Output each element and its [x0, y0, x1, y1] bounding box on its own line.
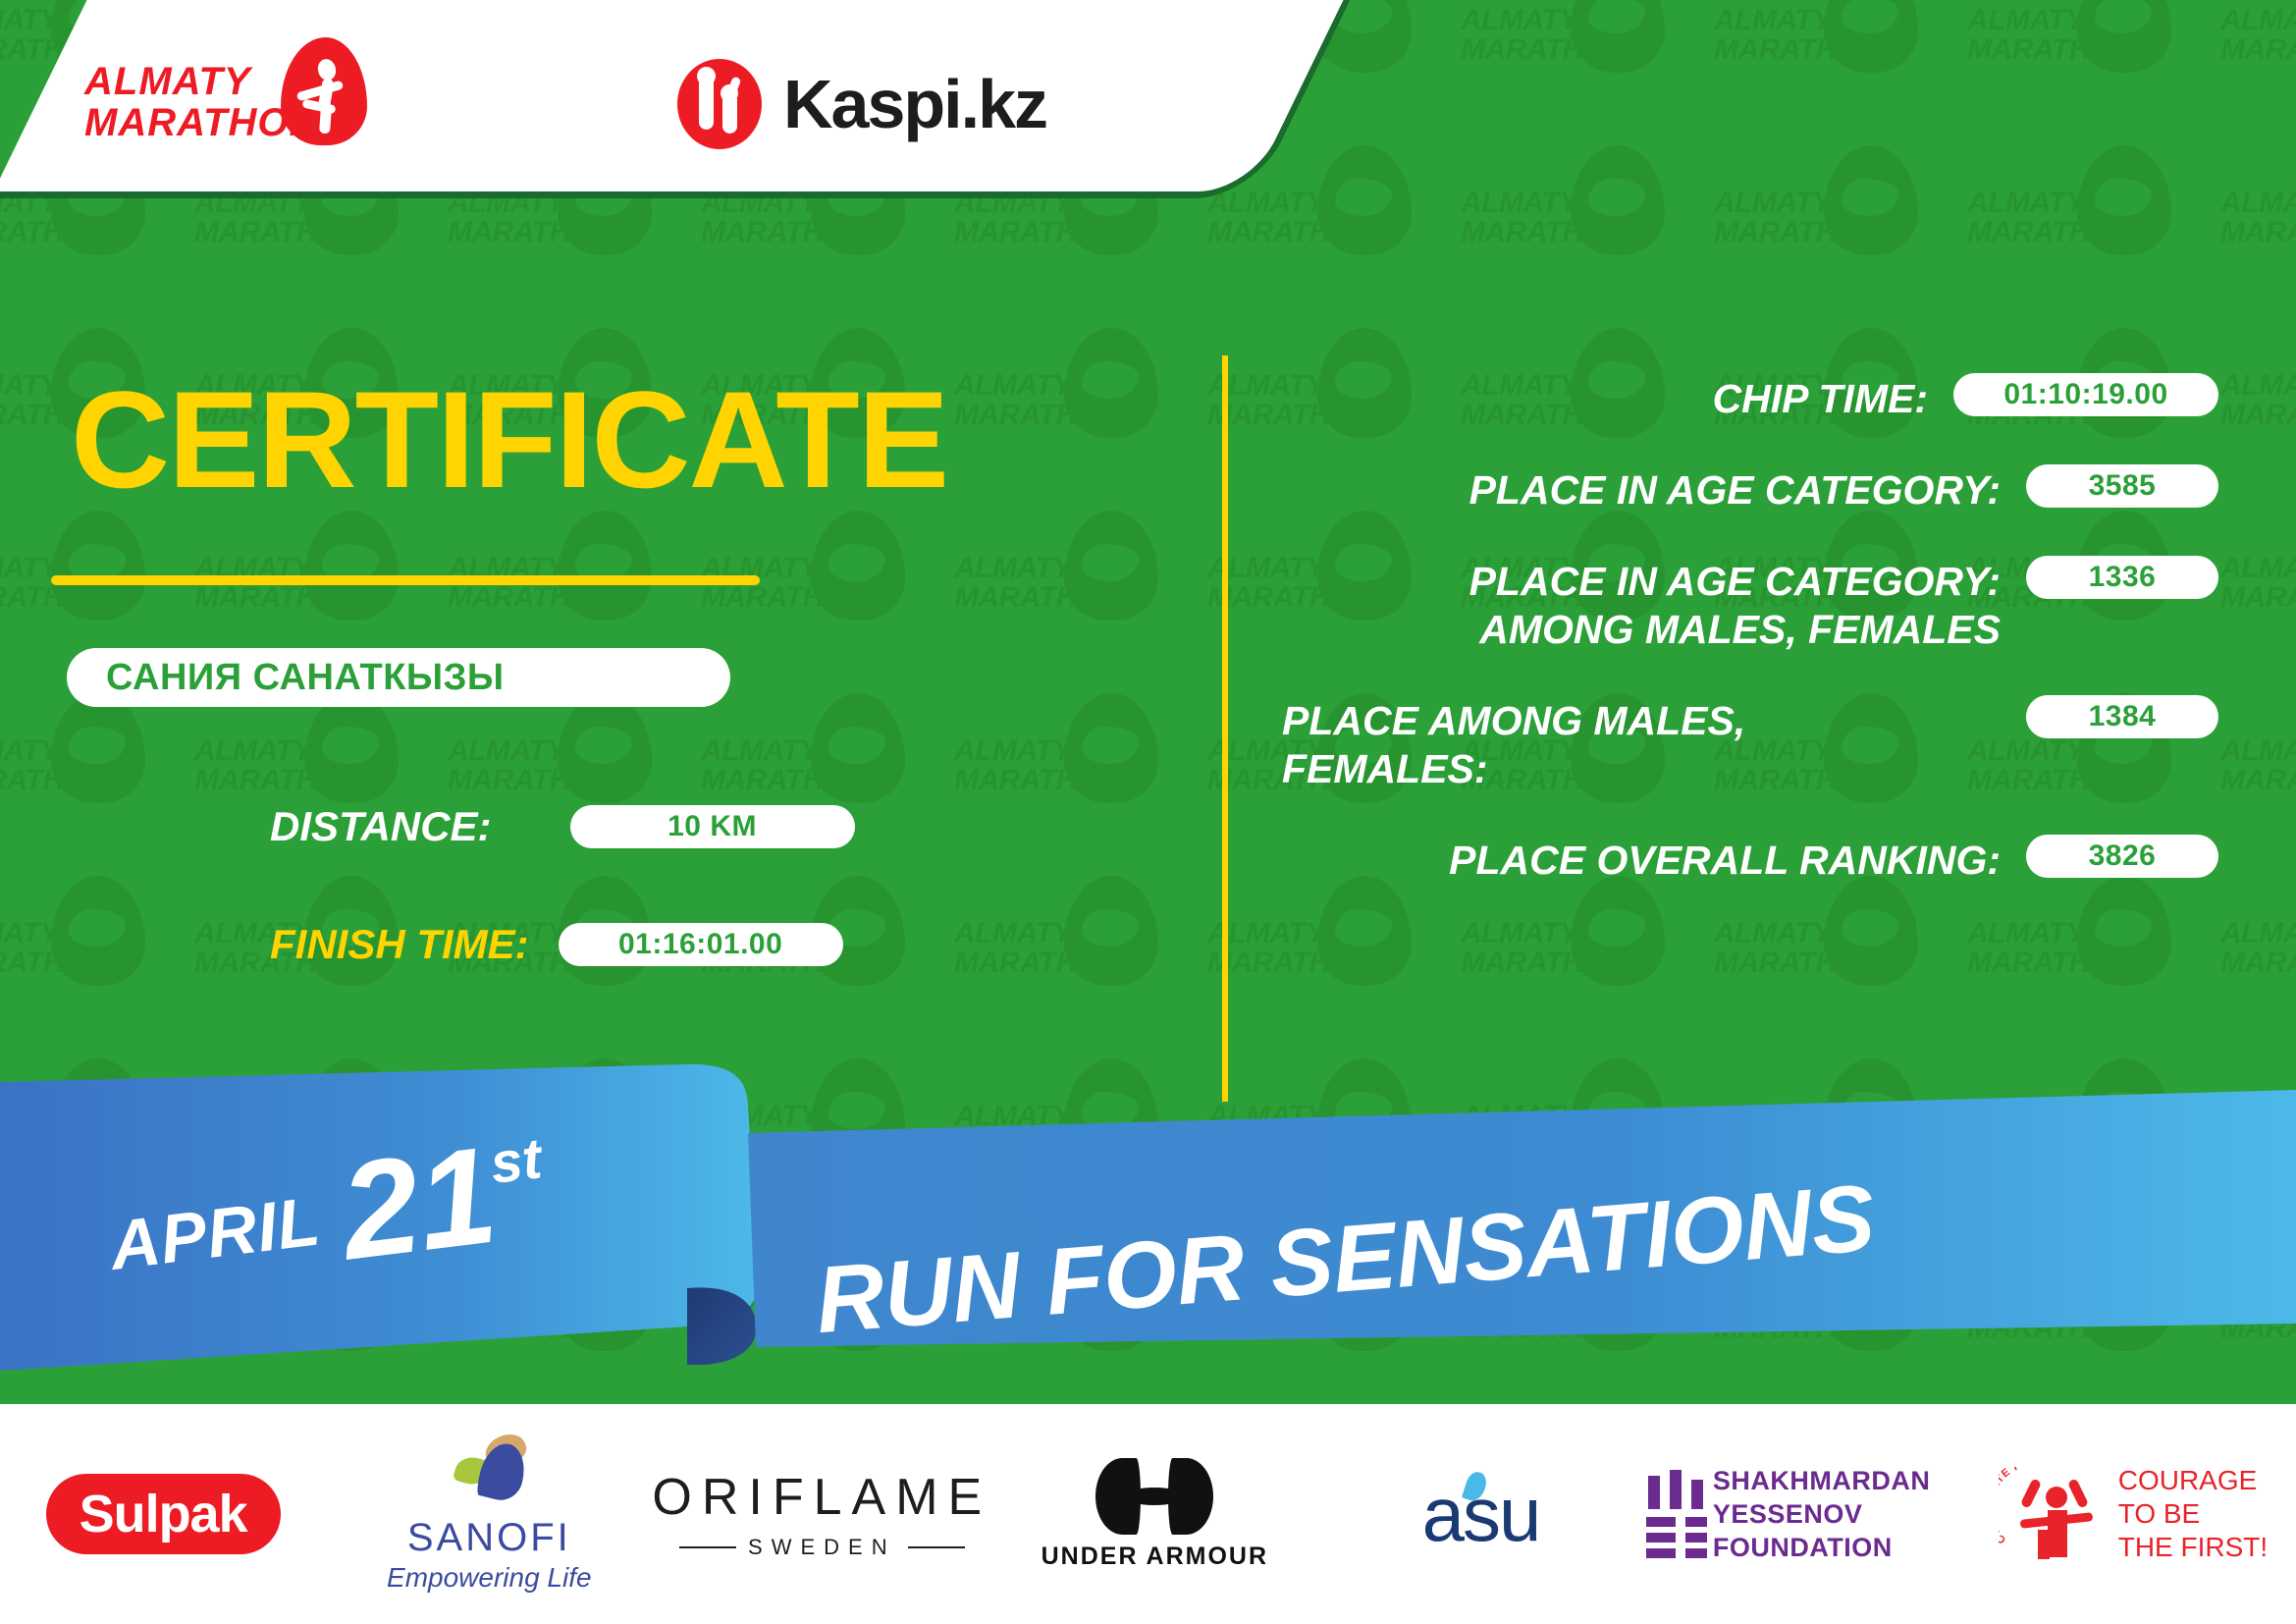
- place-age-category-label: PLACE IN AGE CATEGORY:: [1276, 464, 2026, 514]
- watermark-text: ALMATYMARATHON: [954, 554, 1082, 613]
- page-title: CERTIFICATE: [71, 371, 947, 509]
- watermark-drop-icon: [2077, 0, 2171, 73]
- watermark-text: ALMATYMARATHON: [954, 736, 1082, 795]
- place-age-category-gender-label: PLACE IN AGE CATEGORY: AMONG MALES, FEMA…: [1276, 556, 2026, 654]
- watermark-drop-icon: [1571, 0, 1665, 73]
- watermark-tile: ALMATYMARATHON: [954, 874, 1190, 1041]
- yessenov-bars-icon: [1644, 1470, 1695, 1558]
- distance-value: 10 KM: [570, 805, 855, 848]
- watermark-text: ALMATYMARATHON: [1714, 919, 1842, 978]
- sponsor-courage: CORPORATE FUND COURAGE TO BE THE FIRST!: [1970, 1435, 2296, 1593]
- watermark-tile: ALMATYMARATHON: [1461, 0, 1696, 128]
- under-armour-wordmark: UNDER ARMOUR: [1041, 1543, 1268, 1571]
- watermark-drop-icon: [1064, 511, 1158, 621]
- participant-name-value: САНИЯ САНАТКЫЗЫ: [67, 657, 505, 699]
- watermark-text: ALMATYMARATHON: [701, 736, 828, 795]
- watermark-drop-icon: [51, 511, 145, 621]
- watermark-text: ALMATYMARATHON: [2220, 919, 2296, 978]
- watermark-tile: ALMATYMARATHON: [1714, 0, 1949, 128]
- watermark-drop-icon: [811, 511, 905, 621]
- finish-time-label: FINISH TIME:: [270, 921, 529, 968]
- watermark-text: ALMATYMARATHON: [2220, 189, 2296, 247]
- yessenov-wordmark-line1: SHAKHMARDAN YESSENOV: [1713, 1464, 1970, 1531]
- watermark-text: ALMATYMARATHON: [1714, 189, 1842, 247]
- place-among-gender-label-line2: FEMALES:: [1282, 745, 2001, 793]
- yessenov-wordmark: SHAKHMARDAN YESSENOV FOUNDATION: [1713, 1464, 1970, 1564]
- oriflame-sub-label: SWEDEN: [736, 1535, 908, 1560]
- under-armour-mark-icon: [1095, 1458, 1213, 1535]
- watermark-tile: ALMATYMARATHON: [0, 874, 177, 1041]
- watermark-tile: ALMATYMARATHON: [2220, 691, 2296, 858]
- oriflame-logo: ORIFLAME SWEDEN: [652, 1468, 991, 1560]
- oriflame-sub: SWEDEN: [652, 1535, 991, 1560]
- result-row-chip-time: CHIP TIME: 01:10:19.00: [1276, 373, 2218, 423]
- watermark-tile: ALMATYMARATHON: [2220, 509, 2296, 676]
- watermark-tile: ALMATYMARATHON: [2220, 326, 2296, 493]
- watermark-text: ALMATYMARATHON: [954, 919, 1082, 978]
- watermark-tile: ALMATYMARATHON: [1714, 143, 1949, 310]
- certificate-page: ALMATYMARATHONALMATYMARATHONALMATYMARATH…: [0, 0, 2296, 1624]
- sponsor-yessenov: SHAKHMARDAN YESSENOV FOUNDATION: [1644, 1435, 1970, 1593]
- place-age-category-gender-value: 1336: [2026, 556, 2218, 599]
- courage-line1: COURAGE: [2118, 1464, 2268, 1497]
- watermark-drop-icon: [1064, 328, 1158, 438]
- result-row-place-age-category-gender: PLACE IN AGE CATEGORY: AMONG MALES, FEMA…: [1276, 556, 2218, 654]
- header-content: ALMATY MARATHON Kaspi.kz: [0, 0, 1158, 191]
- watermark-tile: ALMATYMARATHON: [701, 509, 936, 676]
- title-underline-rule: [51, 575, 760, 585]
- column-divider: [1222, 355, 1228, 1102]
- watermark-tile: ALMATYMARATHON: [1967, 143, 2203, 310]
- sponsor-sanofi: SANOFI Empowering Life: [326, 1435, 652, 1593]
- results-list: CHIP TIME: 01:10:19.00 PLACE IN AGE CATE…: [1276, 373, 2218, 926]
- kaspi-logo: Kaspi.kz: [677, 55, 1090, 153]
- sponsor-strip: Sulpak SANOFI Empowering Life ORIFLAME S…: [0, 1404, 2296, 1624]
- watermark-drop-icon: [1824, 145, 1918, 255]
- watermark-drop-icon: [51, 876, 145, 986]
- watermark-text: ALMATYMARATHON: [1207, 189, 1335, 247]
- kaspi-people-icon: [677, 59, 762, 149]
- watermark-tile: ALMATYMARATHON: [954, 326, 1190, 493]
- watermark-text: ALMATYMARATHON: [1461, 919, 1588, 978]
- watermark-drop-icon: [1824, 0, 1918, 73]
- yessenov-foundation-logo: SHAKHMARDAN YESSENOV FOUNDATION: [1644, 1464, 1970, 1564]
- watermark-text: ALMATYMARATHON: [2220, 6, 2296, 65]
- watermark-drop-icon: [1064, 693, 1158, 803]
- watermark-tile: ALMATYMARATHON: [2220, 0, 2296, 128]
- chip-time-value: 01:10:19.00: [1953, 373, 2218, 416]
- place-age-category-gender-label-line2: AMONG MALES, FEMALES: [1276, 606, 2001, 654]
- asu-logo: asu: [1422, 1470, 1540, 1559]
- watermark-drop-icon: [304, 693, 399, 803]
- watermark-tile: ALMATYMARATHON: [954, 691, 1190, 858]
- watermark-text: ALMATYMARATHON: [1967, 189, 2095, 247]
- yessenov-wordmark-line2: FOUNDATION: [1713, 1531, 1970, 1564]
- watermark-text: ALMATYMARATHON: [2220, 736, 2296, 795]
- watermark-drop-icon: [51, 693, 145, 803]
- courage-line2: TO BE: [2118, 1497, 2268, 1531]
- sanofi-logo: SANOFI Empowering Life: [387, 1435, 592, 1594]
- result-row-place-age-category: PLACE IN AGE CATEGORY: 3585: [1276, 464, 2218, 514]
- sponsor-asu: asu: [1317, 1435, 1643, 1593]
- ribbon-day: 21: [313, 1140, 502, 1269]
- participant-name-field: САНИЯ САНАТКЫЗЫ: [67, 648, 730, 707]
- watermark-text: ALMATYMARATHON: [1967, 6, 2095, 65]
- watermark-drop-icon: [558, 693, 652, 803]
- place-overall-value: 3826: [2026, 835, 2218, 878]
- watermark-text: ALMATYMARATHON: [448, 736, 575, 795]
- watermark-tile: ALMATYMARATHON: [1967, 0, 2203, 128]
- sanofi-mark-icon: [442, 1435, 536, 1512]
- courage-to-be-the-first-logo: CORPORATE FUND COURAGE TO BE THE FIRST!: [1999, 1461, 2268, 1567]
- watermark-text: ALMATYMARATHON: [0, 371, 69, 430]
- watermark-tile: ALMATYMARATHON: [954, 509, 1190, 676]
- running-figure-drop-icon: [281, 37, 367, 145]
- under-armour-logo: UNDER ARMOUR: [1041, 1458, 1268, 1571]
- sponsor-under-armour: UNDER ARMOUR: [991, 1435, 1317, 1593]
- watermark-text: ALMATYMARATHON: [954, 371, 1082, 430]
- finish-time-row: FINISH TIME: 01:16:01.00: [270, 921, 843, 968]
- sanofi-wordmark: SANOFI: [387, 1516, 592, 1560]
- sponsor-sulpak: Sulpak: [0, 1435, 326, 1593]
- sponsor-oriflame: ORIFLAME SWEDEN: [652, 1435, 991, 1593]
- watermark-text: ALMATYMARATHON: [2220, 371, 2296, 430]
- oriflame-wordmark: ORIFLAME: [652, 1468, 991, 1527]
- watermark-text: ALMATYMARATHON: [194, 736, 322, 795]
- courage-figure-icon: CORPORATE FUND: [1999, 1461, 2105, 1567]
- distance-label: DISTANCE:: [270, 803, 492, 850]
- place-age-category-value: 3585: [2026, 464, 2218, 508]
- watermark-text: ALMATYMARATHON: [0, 919, 69, 978]
- watermark-text: ALMATYMARATHON: [2220, 554, 2296, 613]
- place-age-category-gender-label-line1: PLACE IN AGE CATEGORY:: [1276, 558, 2001, 606]
- place-among-gender-label: PLACE AMONG MALES, FEMALES:: [1276, 695, 2026, 793]
- watermark-drop-icon: [1571, 145, 1665, 255]
- watermark-drop-icon: [558, 511, 652, 621]
- watermark-tile: ALMATYMARATHON: [0, 691, 177, 858]
- watermark-drop-icon: [2077, 145, 2171, 255]
- sanofi-tagline: Empowering Life: [387, 1562, 592, 1594]
- result-row-place-among-gender: PLACE AMONG MALES, FEMALES: 1384: [1276, 695, 2218, 793]
- watermark-text: ALMATYMARATHON: [0, 736, 69, 795]
- watermark-drop-icon: [1317, 145, 1412, 255]
- place-among-gender-label-line1: PLACE AMONG MALES,: [1282, 697, 2001, 745]
- kaspi-wordmark: Kaspi.kz: [783, 65, 1046, 143]
- place-among-gender-value: 1384: [2026, 695, 2218, 738]
- watermark-drop-icon: [304, 511, 399, 621]
- watermark-tile: ALMATYMARATHON: [2220, 874, 2296, 1041]
- sulpak-logo: Sulpak: [46, 1474, 281, 1554]
- watermark-text: ALMATYMARATHON: [1461, 189, 1588, 247]
- watermark-text: ALMATYMARATHON: [1714, 6, 1842, 65]
- watermark-text: ALMATYMARATHON: [1461, 6, 1588, 65]
- almaty-marathon-logo: ALMATY MARATHON: [84, 47, 379, 155]
- watermark-drop-icon: [811, 693, 905, 803]
- place-overall-label: PLACE OVERALL RANKING:: [1276, 835, 2026, 885]
- chip-time-label: CHIP TIME:: [1276, 373, 1953, 423]
- watermark-drop-icon: [1064, 876, 1158, 986]
- result-row-place-overall: PLACE OVERALL RANKING: 3826: [1276, 835, 2218, 885]
- watermark-text: ALMATYMARATHON: [1967, 919, 2095, 978]
- distance-row: DISTANCE: 10 KM: [270, 803, 855, 850]
- finish-time-value: 01:16:01.00: [559, 923, 843, 966]
- courage-line3: THE FIRST!: [2118, 1531, 2268, 1564]
- courage-wordmark: COURAGE TO BE THE FIRST!: [2118, 1464, 2268, 1564]
- watermark-tile: ALMATYMARATHON: [2220, 143, 2296, 310]
- watermark-tile: ALMATYMARATHON: [1461, 143, 1696, 310]
